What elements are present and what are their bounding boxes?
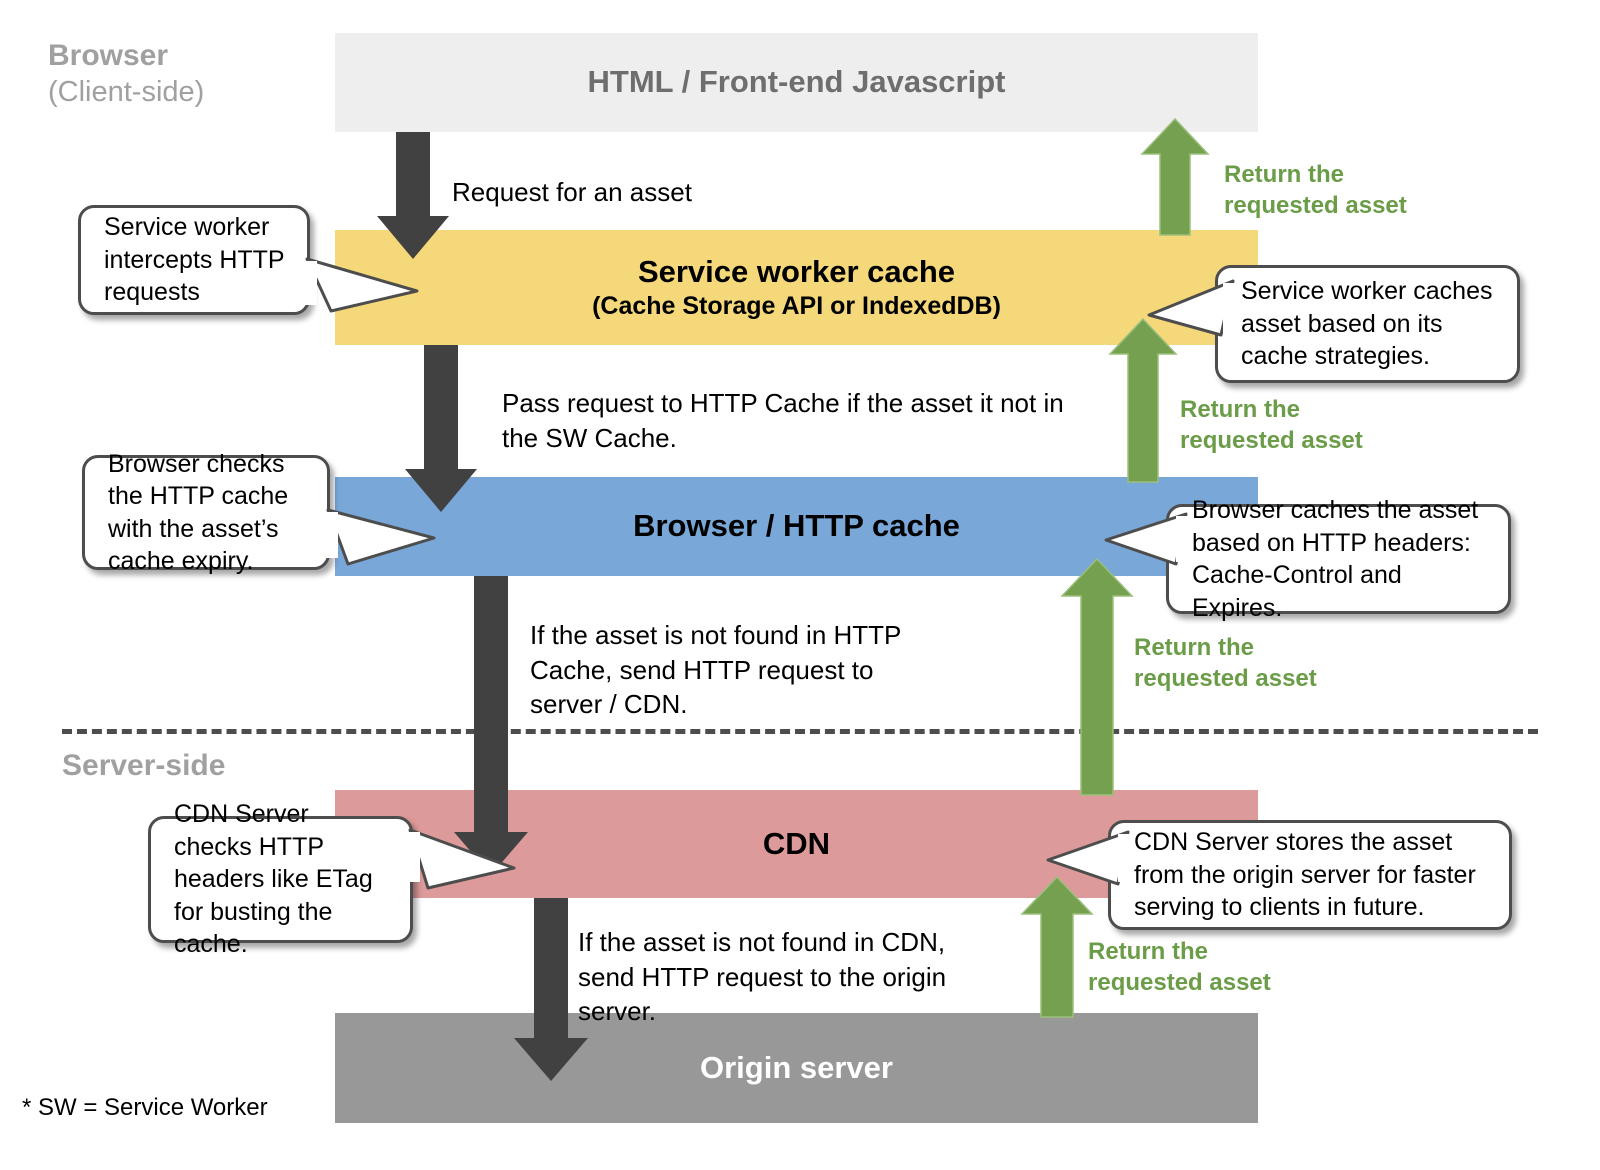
layer-title-http-cache: Browser / HTTP cache bbox=[633, 508, 960, 545]
layer-bar-origin-server: Origin server bbox=[335, 1013, 1258, 1123]
return-arrow-http-to-sw bbox=[1108, 318, 1178, 483]
return-arrow-cdn-to-http bbox=[1060, 558, 1134, 796]
callout-tail-2 bbox=[1147, 279, 1237, 339]
callout-browser-caches-asset: Browser caches the asset based on HTTP h… bbox=[1166, 504, 1511, 614]
callout-tail-5 bbox=[406, 828, 516, 890]
side-label-server: Server-side bbox=[62, 748, 225, 785]
return-label-cdn-to-http: Return the requested asset bbox=[1134, 633, 1317, 694]
return-label-cdn-to-http-line1: Return the bbox=[1134, 633, 1317, 664]
return-label-http-to-sw: Return the requested asset bbox=[1180, 395, 1363, 456]
callout-text-3: Browser checks the HTTP cache with the a… bbox=[82, 455, 330, 570]
note-request-for-asset: Request for an asset bbox=[452, 175, 992, 210]
request-arrow-html-to-sw bbox=[376, 132, 450, 260]
callout-cdn-stores-asset: CDN Server stores the asset from the ori… bbox=[1108, 820, 1512, 930]
callout-text-2: Service worker caches asset based on its… bbox=[1215, 265, 1520, 383]
callout-tail-6 bbox=[1046, 830, 1132, 888]
request-arrow-sw-to-http bbox=[404, 345, 478, 513]
side-label-client: Browser (Client-side) bbox=[48, 38, 204, 110]
callout-tail-4 bbox=[1104, 512, 1190, 568]
note-asset-not-found-cdn: If the asset is not found in CDN, send H… bbox=[578, 925, 1008, 1029]
footnote-sw-abbreviation: * SW = Service Worker bbox=[22, 1094, 268, 1122]
return-label-cdn-to-http-line2: requested asset bbox=[1134, 664, 1317, 695]
callout-browser-checks-http-cache: Browser checks the HTTP cache with the a… bbox=[82, 455, 330, 570]
layer-title-cdn: CDN bbox=[763, 826, 830, 863]
return-label-sw-to-html: Return the requested asset bbox=[1224, 160, 1407, 221]
layer-title-origin-server: Origin server bbox=[700, 1050, 893, 1087]
return-label-origin-to-cdn-line2: requested asset bbox=[1088, 968, 1271, 999]
callout-service-worker-intercepts: Service worker intercepts HTTP requests bbox=[78, 205, 310, 315]
callout-tail-1 bbox=[303, 257, 419, 313]
return-label-http-to-sw-line2: requested asset bbox=[1180, 426, 1363, 457]
client-server-divider bbox=[62, 729, 1538, 734]
note-pass-request-to-http-cache: Pass request to HTTP Cache if the asset … bbox=[502, 386, 1087, 455]
callout-cdn-checks-headers: CDN Server checks HTTP headers like ETag… bbox=[148, 816, 413, 943]
diagram-canvas: Browser (Client-side) Server-side HTML /… bbox=[0, 0, 1600, 1170]
return-label-origin-to-cdn-line1: Return the bbox=[1088, 937, 1271, 968]
return-arrow-origin-to-cdn bbox=[1020, 876, 1094, 1018]
layer-subtitle-service-worker: (Cache Storage API or IndexedDB) bbox=[592, 291, 1001, 321]
return-label-sw-to-html-line2: requested asset bbox=[1224, 191, 1407, 222]
callout-text-1: Service worker intercepts HTTP requests bbox=[78, 205, 310, 315]
layer-title-html: HTML / Front-end Javascript bbox=[588, 64, 1006, 101]
return-label-http-to-sw-line1: Return the bbox=[1180, 395, 1363, 426]
callout-text-6: CDN Server stores the asset from the ori… bbox=[1108, 820, 1512, 930]
callout-text-5: CDN Server checks HTTP headers like ETag… bbox=[148, 816, 413, 943]
return-label-origin-to-cdn: Return the requested asset bbox=[1088, 937, 1271, 998]
callout-text-4: Browser caches the asset based on HTTP h… bbox=[1166, 504, 1511, 614]
layer-bar-html: HTML / Front-end Javascript bbox=[335, 33, 1258, 132]
return-label-sw-to-html-line1: Return the bbox=[1224, 160, 1407, 191]
callout-tail-3 bbox=[324, 508, 436, 566]
layer-title-service-worker: Service worker cache bbox=[638, 254, 955, 291]
return-arrow-sw-to-html bbox=[1140, 118, 1210, 236]
side-label-client-line1: Browser bbox=[48, 38, 204, 75]
side-label-server-line1: Server-side bbox=[62, 748, 225, 785]
side-label-client-line2: (Client-side) bbox=[48, 75, 204, 110]
callout-service-worker-caches: Service worker caches asset based on its… bbox=[1215, 265, 1520, 383]
note-asset-not-found-http: If the asset is not found in HTTP Cache,… bbox=[530, 618, 930, 722]
